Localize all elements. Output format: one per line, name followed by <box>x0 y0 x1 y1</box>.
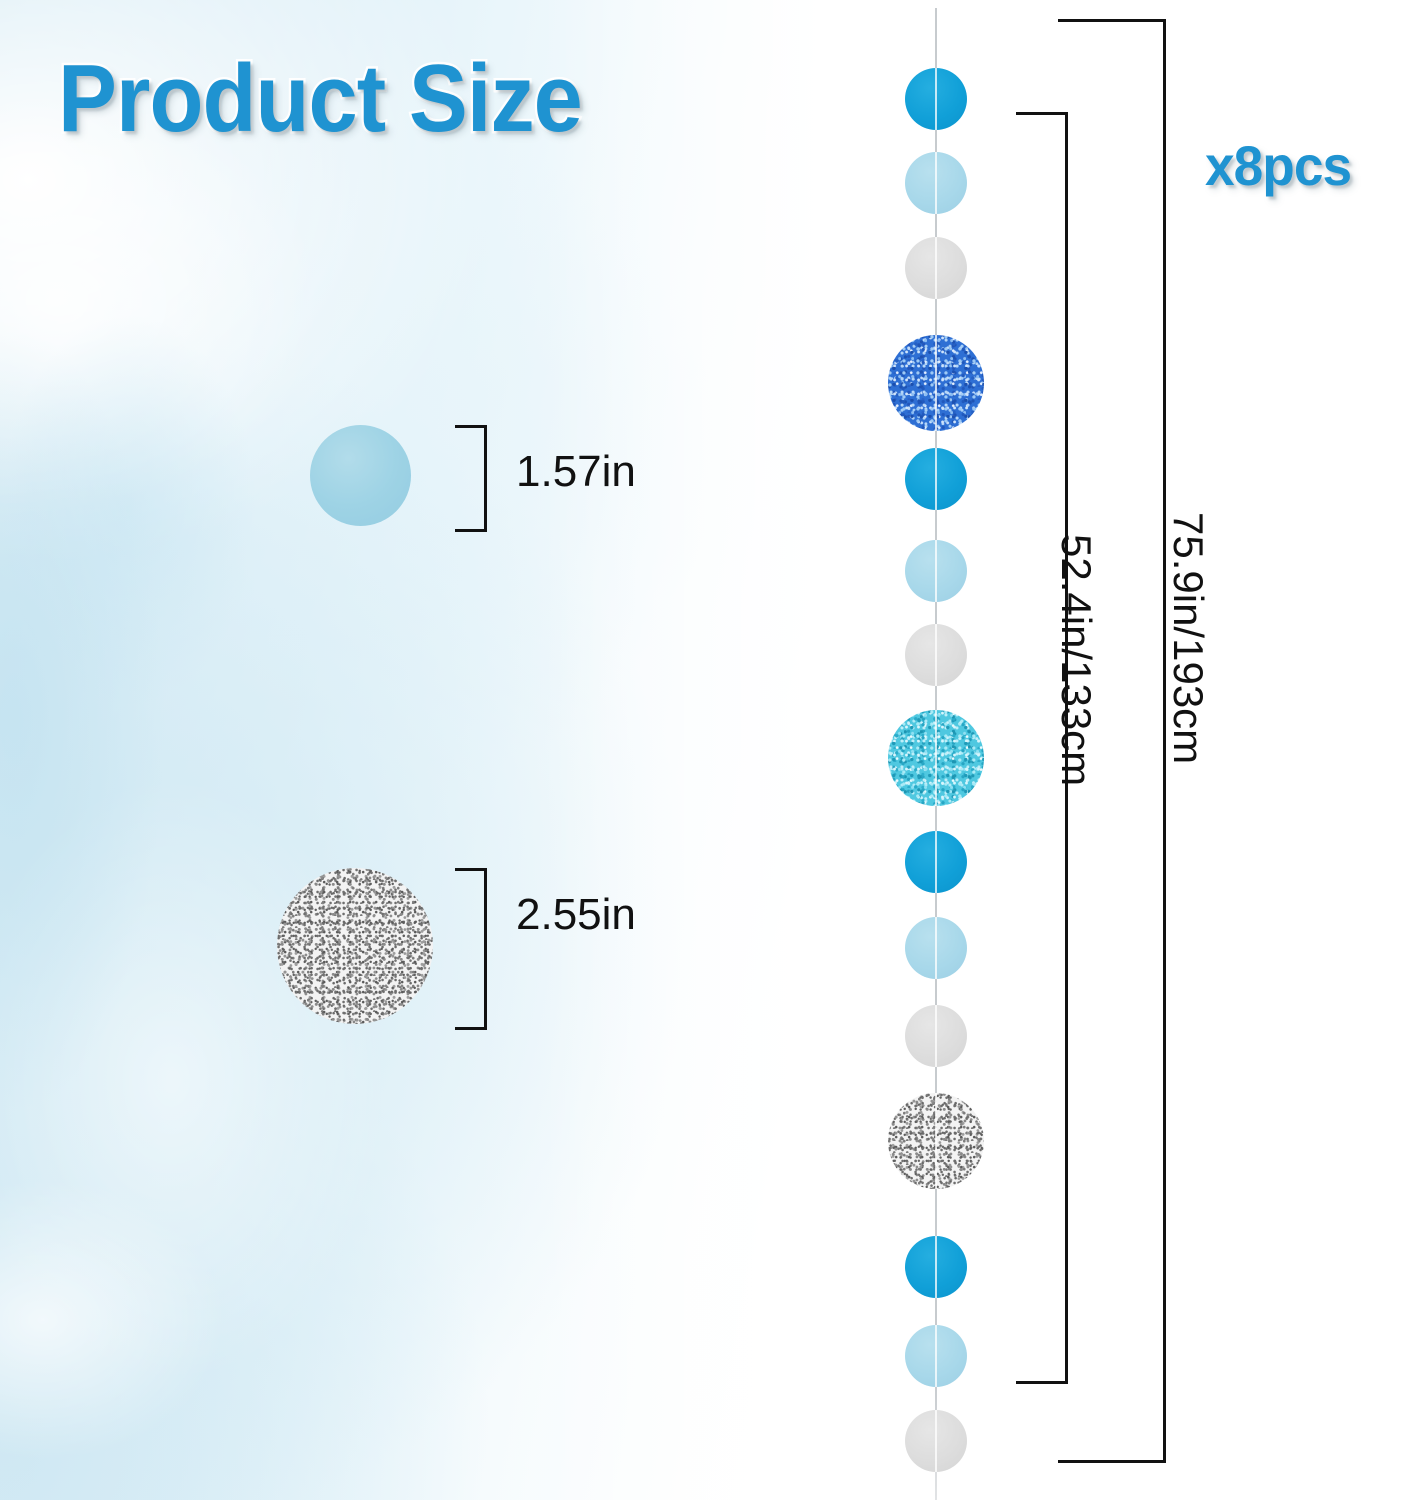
garland-disc-gray <box>905 237 967 299</box>
garland-disc-blue <box>905 831 967 893</box>
garland-disc-blue <box>905 1236 967 1298</box>
garland-disc-glitter-cyan <box>888 710 984 806</box>
garland-strand <box>858 0 1038 1500</box>
garland-disc-lightblue <box>905 1325 967 1387</box>
dimension-bracket-large <box>455 868 487 1030</box>
garland-disc-glitter-silver <box>888 1093 984 1189</box>
dimension-label-outer: 75.9in/193cm <box>1164 512 1212 764</box>
dimension-bracket-outer <box>1058 19 1166 1463</box>
product-size-infographic: Product Size x8pcs 1.57in 2.55in 52.4in/… <box>0 0 1425 1500</box>
dimension-label-small: 1.57in <box>516 447 636 497</box>
garland-disc-lightblue <box>905 540 967 602</box>
garland-disc-blue <box>905 68 967 130</box>
quantity-badge: x8pcs <box>1205 133 1351 198</box>
garland-disc-gray <box>905 1410 967 1472</box>
garland-disc-lightblue <box>905 152 967 214</box>
sample-dot-large <box>277 868 433 1024</box>
garland-disc-lightblue <box>905 917 967 979</box>
sample-dot-small <box>310 425 411 526</box>
garland-disc-glitter-blue <box>888 335 984 431</box>
garland-disc-gray <box>905 624 967 686</box>
garland-disc-gray <box>905 1005 967 1067</box>
dimension-label-large: 2.55in <box>516 890 636 940</box>
dimension-bracket-small <box>455 425 487 532</box>
page-title: Product Size <box>58 44 582 154</box>
garland-disc-blue <box>905 448 967 510</box>
